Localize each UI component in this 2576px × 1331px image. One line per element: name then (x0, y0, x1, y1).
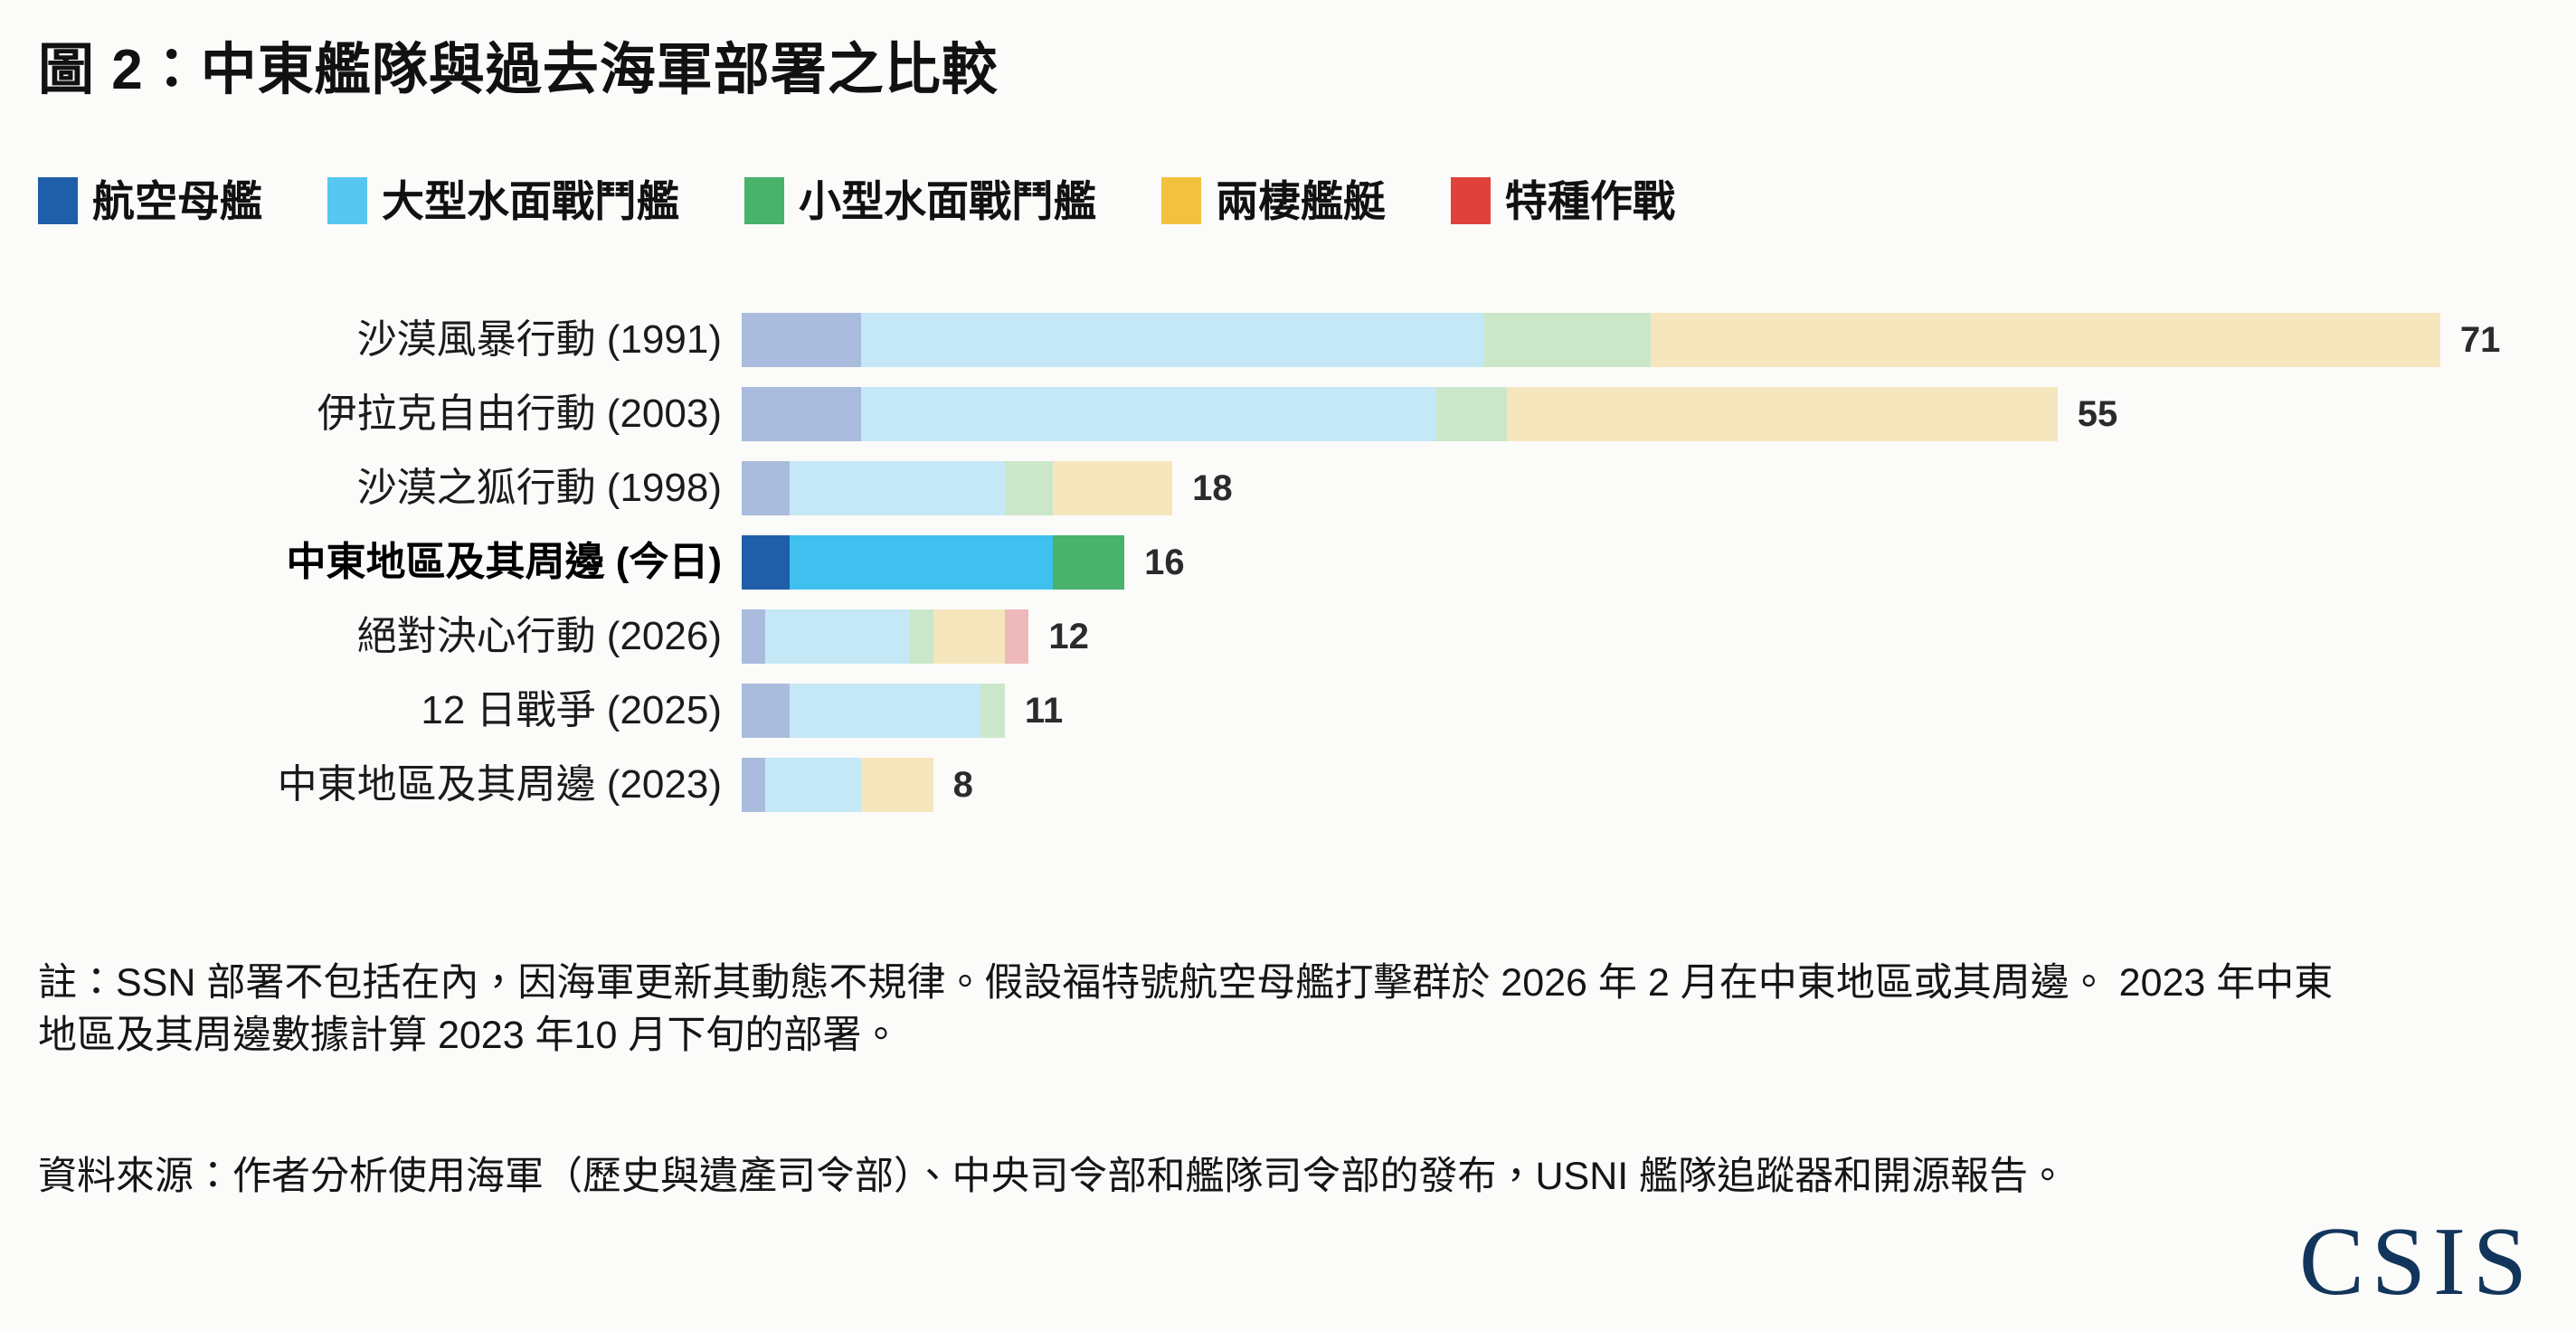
bar-segment (742, 535, 790, 590)
category-label: 中東地區及其周邊 (今日) (0, 543, 742, 582)
stacked-bar: 55 (742, 387, 2576, 441)
bar-segment (861, 313, 1483, 367)
legend-swatch-amphibious (1161, 177, 1201, 224)
chart-row: 中東地區及其周邊 (2023)8 (0, 752, 2576, 817)
bar-segment (765, 758, 861, 812)
csis-logo: CSIS (2299, 1213, 2534, 1311)
bar-total-label: 8 (953, 767, 973, 803)
bar-segment (742, 313, 861, 367)
bar-segment (1435, 387, 1507, 441)
legend-item: 小型水面戰鬥艦 (744, 177, 1096, 224)
legend-item: 特種作戰 (1451, 177, 1675, 224)
chart-row: 絕對決心行動 (2026)12 (0, 604, 2576, 669)
bar-segment (742, 609, 765, 664)
legend-swatch-large-surface (327, 177, 367, 224)
bar-total-label: 16 (1144, 544, 1185, 581)
figure-container: 圖 2：中東艦隊與過去海軍部署之比較 航空母艦大型水面戰鬥艦小型水面戰鬥艦兩棲艦… (0, 0, 2576, 1331)
bar-segment (790, 684, 981, 738)
bar-segment (1651, 313, 2440, 367)
legend-item: 兩棲艦艇 (1161, 177, 1386, 224)
page-title: 圖 2：中東艦隊與過去海軍部署之比較 (38, 24, 999, 105)
category-label: 沙漠風暴行動 (1991) (0, 320, 742, 360)
bar-segment (1005, 609, 1028, 664)
bar-segment (742, 461, 790, 515)
chart-row: 12 日戰爭 (2025)11 (0, 678, 2576, 743)
bar-segment (1005, 461, 1053, 515)
category-label: 伊拉克自由行動 (2003) (0, 394, 742, 434)
chart-row: 中東地區及其周邊 (今日)16 (0, 530, 2576, 595)
legend-item: 航空母艦 (38, 177, 262, 224)
legend-item-label: 航空母艦 (92, 180, 262, 222)
bar-segment (1507, 387, 2057, 441)
stacked-bar-chart: 沙漠風暴行動 (1991)71伊拉克自由行動 (2003)55沙漠之狐行動 (1… (0, 307, 2576, 850)
legend-swatch-special-ops (1451, 177, 1491, 224)
bar-segment (790, 535, 1053, 590)
bar-segment (861, 758, 933, 812)
bar-total-label: 11 (1025, 693, 1063, 729)
bar-segment (742, 758, 765, 812)
bar-segment (933, 609, 1005, 664)
legend-item-label: 兩棲艦艇 (1216, 180, 1386, 222)
category-label: 12 日戰爭 (2025) (0, 691, 742, 731)
stacked-bar: 11 (742, 684, 2576, 738)
stacked-bar: 8 (742, 758, 2576, 812)
legend-swatch-small-surface (744, 177, 784, 224)
stacked-bar: 71 (742, 313, 2576, 367)
chart-row: 沙漠風暴行動 (1991)71 (0, 307, 2576, 373)
legend-item: 大型水面戰鬥艦 (327, 177, 679, 224)
category-label: 絕對決心行動 (2026) (0, 617, 742, 656)
chart-source: 資料來源：作者分析使用海軍（歷史與遺產司令部）、中央司令部和艦隊司令部的發布，U… (38, 1150, 2281, 1203)
chart-row: 伊拉克自由行動 (2003)55 (0, 382, 2576, 447)
stacked-bar: 16 (742, 535, 2576, 590)
bar-segment (742, 387, 861, 441)
category-label: 沙漠之狐行動 (1998) (0, 468, 742, 508)
bar-total-label: 18 (1192, 470, 1233, 506)
legend-item-label: 小型水面戰鬥艦 (799, 180, 1096, 222)
bar-segment (765, 609, 909, 664)
category-label: 中東地區及其周邊 (2023) (0, 765, 742, 805)
chart-row: 沙漠之狐行動 (1998)18 (0, 456, 2576, 521)
legend-item-label: 大型水面戰鬥艦 (382, 180, 679, 222)
chart-notes: 註：SSN 部署不包括在內，因海軍更新其動態不規律。假設福特號航空母艦打擊群於 … (38, 957, 2335, 1062)
bar-segment (1053, 535, 1124, 590)
stacked-bar: 12 (742, 609, 2576, 664)
legend-item-label: 特種作戰 (1505, 180, 1675, 222)
bar-total-label: 12 (1048, 618, 1089, 655)
bar-segment (861, 387, 1435, 441)
bar-total-label: 55 (2078, 396, 2118, 432)
stacked-bar: 18 (742, 461, 2576, 515)
chart-legend: 航空母艦大型水面戰鬥艦小型水面戰鬥艦兩棲艦艇特種作戰 (38, 177, 1740, 224)
bar-segment (790, 461, 1005, 515)
bar-segment (980, 684, 1004, 738)
bar-segment (909, 609, 933, 664)
bar-segment (1483, 313, 1651, 367)
bar-segment (742, 684, 790, 738)
bar-total-label: 71 (2460, 322, 2501, 358)
legend-swatch-carrier (38, 177, 78, 224)
bar-segment (1053, 461, 1172, 515)
